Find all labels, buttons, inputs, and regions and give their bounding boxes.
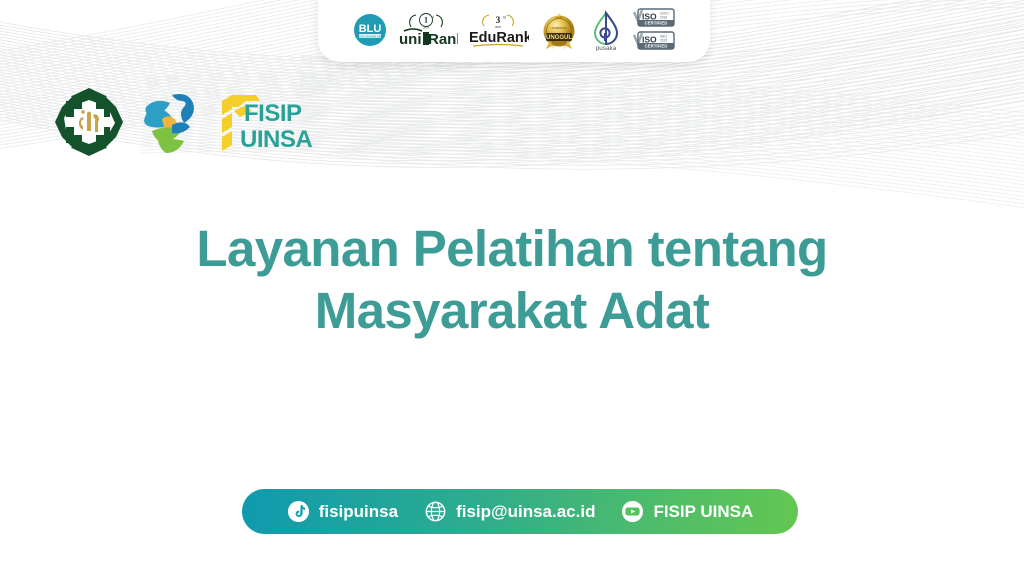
globe-icon	[424, 500, 447, 523]
svg-text:2018: 2018	[660, 16, 667, 20]
fisip-uinsa-wordmark: FISIP UINSA	[216, 85, 320, 164]
fisip-symbol-logo	[138, 85, 204, 164]
svg-text:2024: 2024	[423, 26, 429, 30]
uinsa-emblem-logo	[52, 85, 126, 164]
svg-text:EduRank: EduRank	[469, 30, 529, 46]
svg-text:2024: 2024	[495, 25, 501, 29]
wave-line	[300, 77, 1024, 142]
svg-text:2015: 2015	[660, 39, 667, 43]
svg-text:pusaka: pusaka	[595, 45, 616, 51]
wave-line	[300, 72, 1024, 138]
svg-text:BADAN LAYANAN UMUM: BADAN LAYANAN UMUM	[354, 34, 384, 38]
institution-logo-strip: FISIP UINSA	[52, 82, 312, 166]
wave-line	[300, 53, 1024, 122]
badge-edurank: 3 rd 2024 EduRank	[467, 10, 529, 50]
contact-bar: fisipuinsa fisip@uinsa.ac.id FISIP UINSA	[242, 489, 798, 534]
badge-unirank: 1 st 2024 uni Rank	[396, 10, 458, 50]
svg-text:rd: rd	[503, 16, 506, 20]
contact-item-tiktok[interactable]: fisipuinsa	[287, 500, 398, 523]
contact-label-tiktok: fisipuinsa	[319, 502, 398, 522]
svg-text:BLU: BLU	[358, 23, 381, 35]
accreditation-badge-card: BLU BADAN LAYANAN UMUM 1 st 2024 uni Ran…	[318, 0, 710, 62]
tiktok-icon	[287, 500, 310, 523]
title-line-1: Layanan Pelatihan tentang	[0, 218, 1024, 280]
wave-line	[300, 86, 1024, 149]
wave-line	[300, 67, 1024, 134]
wave-line	[300, 105, 1024, 166]
wave-line	[300, 109, 1024, 169]
iso-21001-badge: ISO 21001 2018 CERTIFIED	[634, 9, 674, 26]
svg-text:CERTIFIED: CERTIFIED	[644, 21, 667, 26]
svg-text:st: st	[431, 15, 433, 19]
wave-line	[300, 81, 1024, 145]
svg-text:UINSA: UINSA	[240, 126, 312, 153]
svg-text:1: 1	[424, 16, 428, 25]
svg-text:uni: uni	[399, 31, 422, 48]
badge-row: BLU BADAN LAYANAN UMUM 1 st 2024 uni Ran…	[353, 4, 676, 56]
svg-text:CERTIFIED: CERTIFIED	[644, 44, 667, 49]
iso-9001-badge: ISO 9001 2015 CERTIFIED	[634, 32, 674, 49]
contact-label-email: fisip@uinsa.ac.id	[456, 502, 595, 522]
wave-line	[300, 63, 1024, 130]
svg-text:3: 3	[495, 15, 500, 25]
contact-item-email[interactable]: fisip@uinsa.ac.id	[424, 500, 595, 523]
badge-pusaka: pusaka	[589, 9, 623, 51]
page-title: Layanan Pelatihan tentang Masyarakat Ada…	[0, 218, 1024, 342]
contact-label-youtube: FISIP UINSA	[653, 502, 753, 522]
wave-line	[300, 91, 1024, 154]
svg-text:UNGGUL: UNGGUL	[546, 35, 572, 41]
badge-unggul: UNGGUL AKREDITASI	[538, 9, 580, 51]
contact-item-youtube[interactable]: FISIP UINSA	[621, 500, 753, 523]
wave-line	[300, 95, 1024, 157]
wave-line	[300, 100, 1024, 161]
svg-text:FISIP: FISIP	[244, 100, 302, 127]
svg-text:Rank: Rank	[428, 31, 458, 48]
wave-line	[300, 58, 1024, 126]
youtube-icon	[621, 500, 644, 523]
svg-text:AKREDITASI: AKREDITASI	[551, 26, 567, 30]
title-line-2: Masyarakat Adat	[0, 280, 1024, 342]
badge-blu: BLU BADAN LAYANAN UMUM	[353, 13, 387, 47]
badge-iso-group: ISO 21001 2018 CERTIFIED ISO 9001 2015 C…	[632, 7, 676, 53]
